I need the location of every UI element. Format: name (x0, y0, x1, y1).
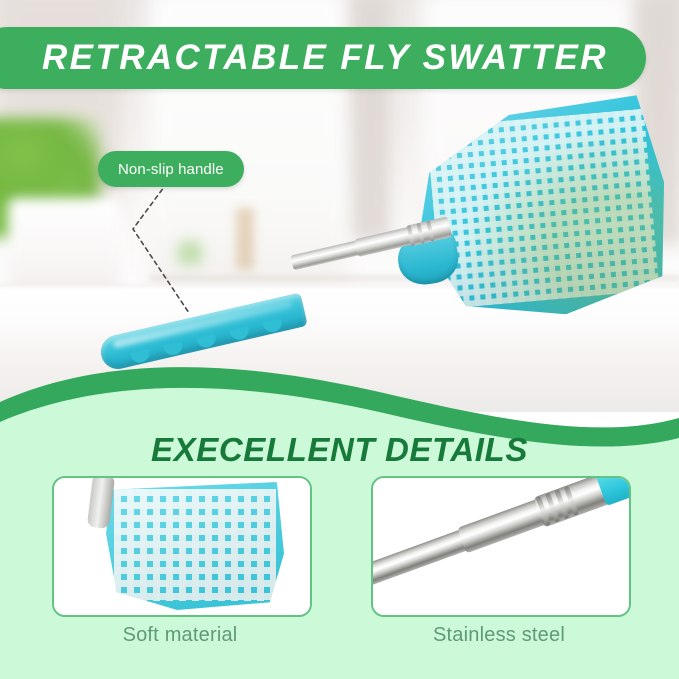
detail-card-caption: Soft material (52, 624, 308, 647)
mesh-head-closeup-icon (106, 482, 284, 610)
infographic-page: Non-slip handle RETRACTABLE FLY SWATTER … (0, 0, 679, 679)
detail-card-soft-material (52, 476, 312, 617)
detail-cards: Soft material S (0, 476, 679, 676)
details-section: EXECELLENT DETAILS Soft material (0, 356, 679, 679)
callout-label: Non-slip handle (118, 161, 224, 178)
callout-non-slip-handle: Non-slip handle (98, 151, 244, 187)
mesh-swatter-head-icon (409, 94, 675, 327)
telescoping-rod-closeup-icon (373, 478, 629, 597)
detail-card-stainless-steel (371, 476, 631, 617)
detail-card-caption: Stainless steel (371, 624, 627, 647)
section-heading: EXECELLENT DETAILS (0, 431, 679, 469)
banner-title: RETRACTABLE FLY SWATTER (42, 38, 608, 78)
title-banner: RETRACTABLE FLY SWATTER (0, 27, 646, 89)
